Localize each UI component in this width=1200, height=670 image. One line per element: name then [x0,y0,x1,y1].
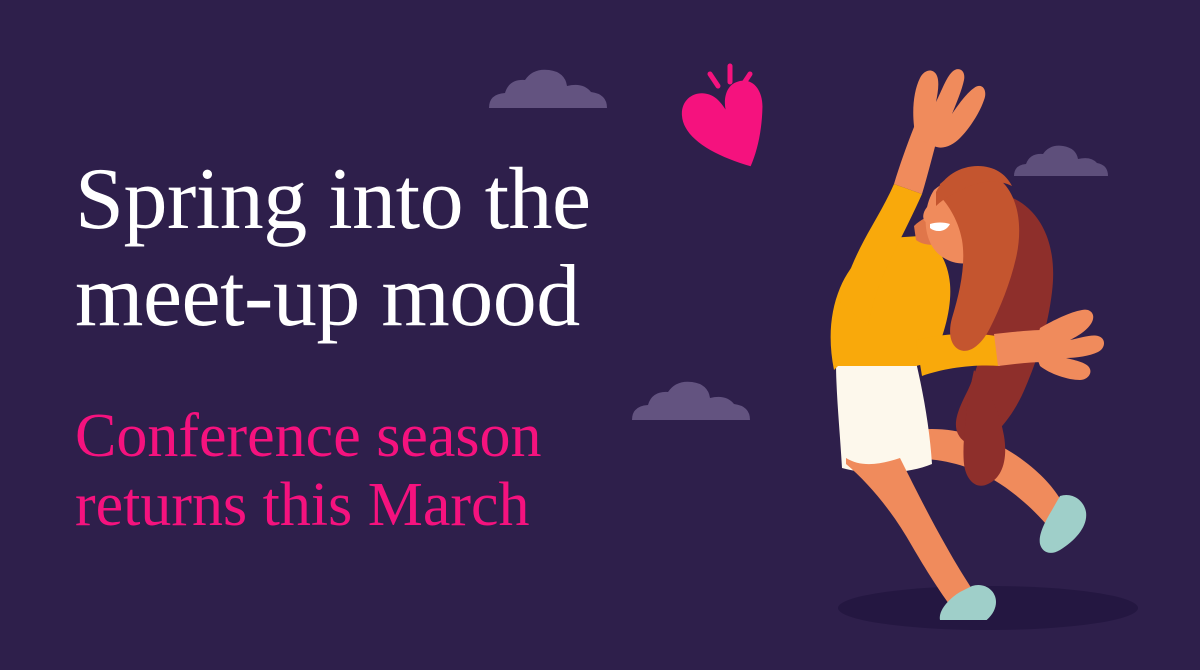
skirt [836,362,932,473]
page-title: Spring into the meet-up mood [75,152,695,346]
cloud-top-left [487,68,609,110]
raised-hand [913,69,985,147]
subheading: Conference season returns this March [75,346,695,541]
dancing-woman-illustration [788,40,1118,620]
heart-icon [672,48,792,168]
promo-banner: Spring into the meet-up mood Conference … [0,0,1200,670]
text-block: Spring into the meet-up mood Conference … [75,152,695,540]
